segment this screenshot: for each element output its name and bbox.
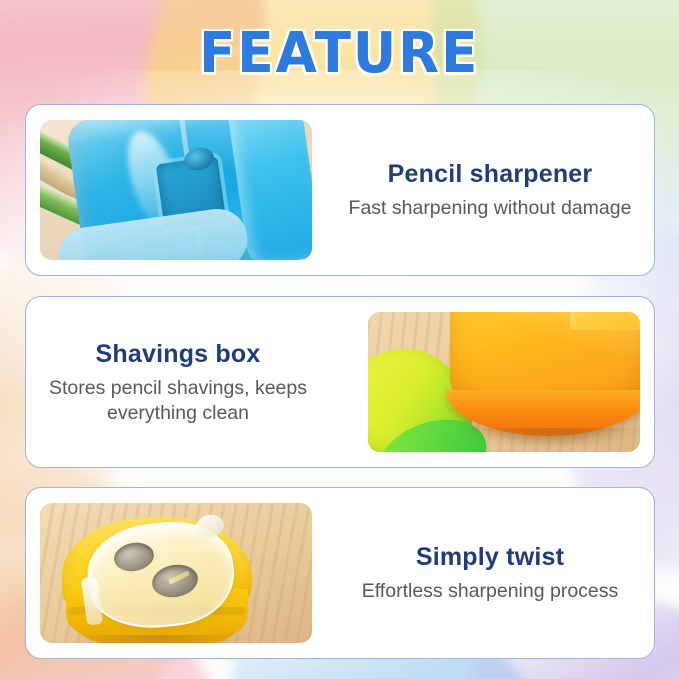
feature-text-3: Simply twist Effortless sharpening proce… bbox=[326, 542, 654, 604]
twist-sharpener-shadow bbox=[66, 635, 250, 643]
shavings-box-shadow bbox=[454, 428, 640, 450]
shavings-box-notch bbox=[569, 312, 640, 330]
feature-title-3: Simply twist bbox=[336, 542, 644, 572]
feature-infographic: FEATURE Pencil sharpener Fast sharpen bbox=[0, 0, 679, 679]
photo-blue-sharpener bbox=[40, 120, 312, 260]
feature-text-2: Shavings box Stores pencil shavings, kee… bbox=[26, 339, 354, 426]
feature-image-2 bbox=[368, 312, 640, 452]
feature-title-1: Pencil sharpener bbox=[336, 159, 644, 189]
feature-card-3: Simply twist Effortless sharpening proce… bbox=[25, 487, 655, 659]
feature-image-3 bbox=[40, 503, 312, 643]
feature-image-1 bbox=[40, 120, 312, 260]
feature-text-1: Pencil sharpener Fast sharpening without… bbox=[326, 159, 654, 221]
feature-card-2: Shavings box Stores pencil shavings, kee… bbox=[25, 296, 655, 468]
feature-card-1: Pencil sharpener Fast sharpening without… bbox=[25, 104, 655, 276]
page-title: FEATURE bbox=[199, 21, 479, 86]
photo-yellow-twist-sharpener bbox=[40, 503, 312, 643]
page-title-wrap: FEATURE bbox=[0, 24, 679, 82]
feature-desc-3: Effortless sharpening process bbox=[336, 579, 644, 604]
feature-title-2: Shavings box bbox=[26, 339, 330, 369]
photo-orange-shavings-box bbox=[368, 312, 640, 452]
feature-desc-2: Stores pencil shavings, keeps everything… bbox=[26, 376, 330, 426]
feature-desc-1: Fast sharpening without damage bbox=[336, 196, 644, 221]
